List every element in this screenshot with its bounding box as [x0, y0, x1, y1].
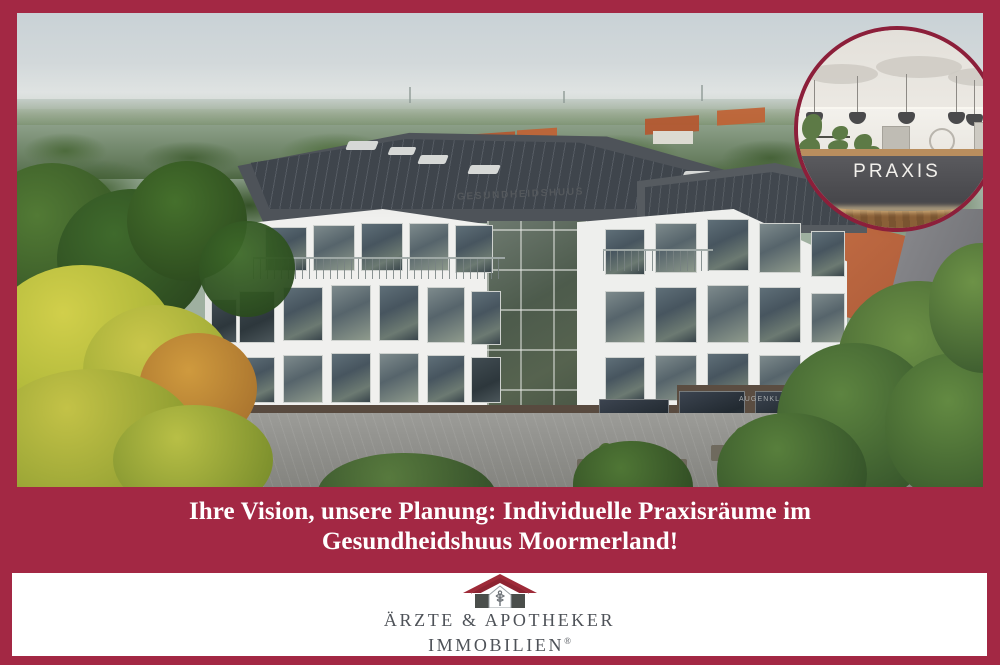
logo-bar: ÄRZTE & APOTHEKER IMMOBILIEN® — [12, 573, 987, 656]
logo-line-2: IMMOBILIEN® — [428, 631, 571, 656]
window — [605, 291, 645, 343]
window — [759, 287, 801, 343]
window — [427, 287, 465, 343]
window — [707, 285, 749, 343]
window — [283, 355, 323, 403]
distant-spire-icon — [701, 85, 703, 101]
window — [471, 357, 501, 403]
registered-mark: ® — [564, 636, 571, 646]
distant-spire-icon — [409, 87, 411, 103]
window — [427, 355, 465, 403]
terrace-railing — [603, 249, 713, 271]
main-photo: GESUNDHEIDSHUUS — [17, 13, 983, 487]
pendant-wire — [906, 74, 907, 112]
counter-underlight — [794, 206, 983, 213]
house-with-caduceus-icon — [463, 574, 537, 608]
praxis-label: PRAXIS — [798, 161, 983, 183]
window — [707, 219, 749, 271]
ceiling-disc — [806, 64, 878, 84]
window — [331, 353, 371, 403]
pendant-wire — [857, 76, 858, 112]
window — [379, 353, 419, 403]
roof-vent — [417, 155, 449, 164]
window — [605, 357, 645, 401]
praxis-inset-photo: PRAXIS — [794, 26, 983, 232]
window — [759, 223, 801, 273]
window — [379, 285, 419, 341]
roof-vent — [387, 147, 416, 155]
roof-vent — [345, 141, 379, 150]
distant-spire-icon — [563, 91, 565, 103]
window — [655, 287, 697, 343]
window — [331, 285, 371, 341]
headline-line-2: Gesundheidshuus Moormerland! — [322, 527, 678, 557]
window — [811, 231, 845, 277]
logo-line-2-text: IMMOBILIEN — [428, 635, 564, 655]
headline-banner: Ihre Vision, unsere Planung: Individuell… — [0, 487, 1000, 567]
window — [283, 287, 323, 341]
listing-card: GESUNDHEIDSHUUS — [0, 0, 1000, 665]
pendant-wire — [814, 80, 815, 112]
window — [811, 293, 845, 343]
tree-left — [199, 221, 295, 317]
logo-line-1: ÄRZTE & APOTHEKER — [384, 610, 615, 631]
headline-line-1: Ihre Vision, unsere Planung: Individuell… — [189, 497, 811, 527]
pendant-wire — [956, 76, 957, 112]
pendant-wire — [974, 80, 975, 114]
roof-vent — [467, 165, 501, 174]
window — [471, 291, 501, 345]
